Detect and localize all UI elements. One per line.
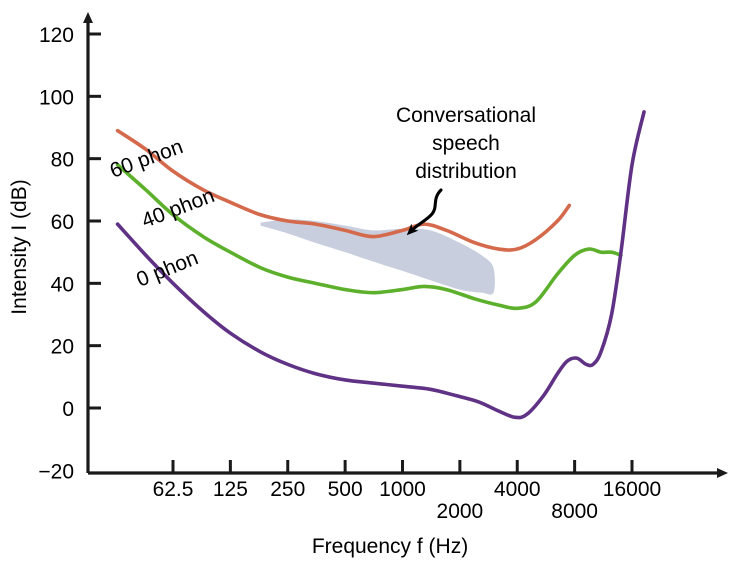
x-tick-label-62.5: 62.5 xyxy=(153,478,194,501)
y-tick-label-0: 0 xyxy=(62,398,74,421)
annotation-line-3: distribution xyxy=(415,160,517,183)
y-tick-label-40: 40 xyxy=(51,273,74,296)
x-tick-label-8000: 8000 xyxy=(551,500,598,523)
chart-canvas: 120100806040200−20 62.512525050010002000… xyxy=(0,0,750,567)
annotation-line-1: Conversational xyxy=(396,104,536,127)
y-tick-labels: 120100806040200−20 xyxy=(38,24,74,483)
conversational-speech-region xyxy=(261,219,495,294)
y-tick-label-120: 120 xyxy=(39,24,74,47)
y-tick-label--20: −20 xyxy=(38,460,74,483)
curve-label-60-phon: 60 phon xyxy=(107,135,186,183)
x-tick-label-250: 250 xyxy=(270,478,305,501)
y-axis-ticks xyxy=(88,34,101,408)
y-tick-label-80: 80 xyxy=(51,149,74,172)
x-tick-label-125: 125 xyxy=(213,478,248,501)
x-tick-label-16000: 16000 xyxy=(603,478,661,501)
x-axis-title: Frequency f (Hz) xyxy=(312,535,468,558)
x-tick-label-4000: 4000 xyxy=(494,478,541,501)
x-tick-label-2000: 2000 xyxy=(437,500,484,523)
x-tick-label-500: 500 xyxy=(328,478,363,501)
y-tick-label-60: 60 xyxy=(51,211,74,234)
curve-label-40-phon: 40 phon xyxy=(139,184,218,233)
y-axis-title: Intensity I (dB) xyxy=(8,179,31,314)
x-axis-ticks xyxy=(173,460,632,473)
annotation-line-2: speech xyxy=(432,132,500,155)
x-tick-labels: 62.5125250500100020004000800016000 xyxy=(153,478,662,523)
y-tick-label-20: 20 xyxy=(51,336,74,359)
y-tick-label-100: 100 xyxy=(39,86,74,109)
speech-distribution-annotation: Conversational speech distribution xyxy=(396,104,536,231)
equal-loudness-contours-chart: 120100806040200−20 62.512525050010002000… xyxy=(0,0,750,567)
x-tick-label-1000: 1000 xyxy=(379,478,426,501)
